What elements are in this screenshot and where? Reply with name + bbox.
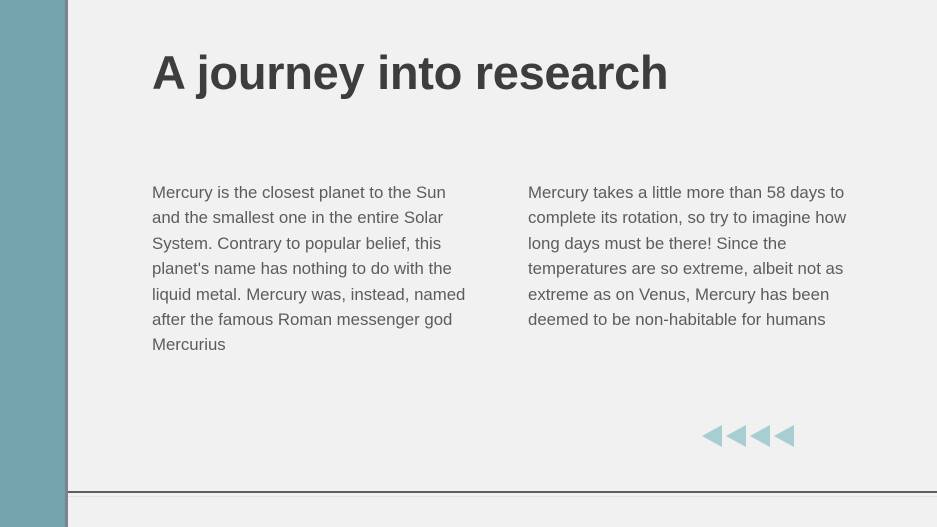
body-paragraph-left: Mercury is the closest planet to the Sun…	[152, 180, 474, 358]
slide-canvas: A journey into research Mercury is the c…	[0, 0, 937, 527]
left-triangle-icon	[750, 425, 770, 447]
left-accent-bar	[0, 0, 68, 527]
body-column-left: Mercury is the closest planet to the Sun…	[152, 180, 474, 358]
footer-divider-shadow	[68, 496, 937, 497]
page-title: A journey into research	[152, 48, 872, 97]
footer-divider	[68, 491, 937, 493]
body-columns: Mercury is the closest planet to the Sun…	[152, 180, 882, 358]
left-triangle-icon	[774, 425, 794, 447]
left-triangle-icon	[702, 425, 722, 447]
body-column-right: Mercury takes a little more than 58 days…	[528, 180, 850, 358]
triangle-decoration	[702, 425, 794, 447]
left-triangle-icon	[726, 425, 746, 447]
body-paragraph-right: Mercury takes a little more than 58 days…	[528, 180, 850, 332]
